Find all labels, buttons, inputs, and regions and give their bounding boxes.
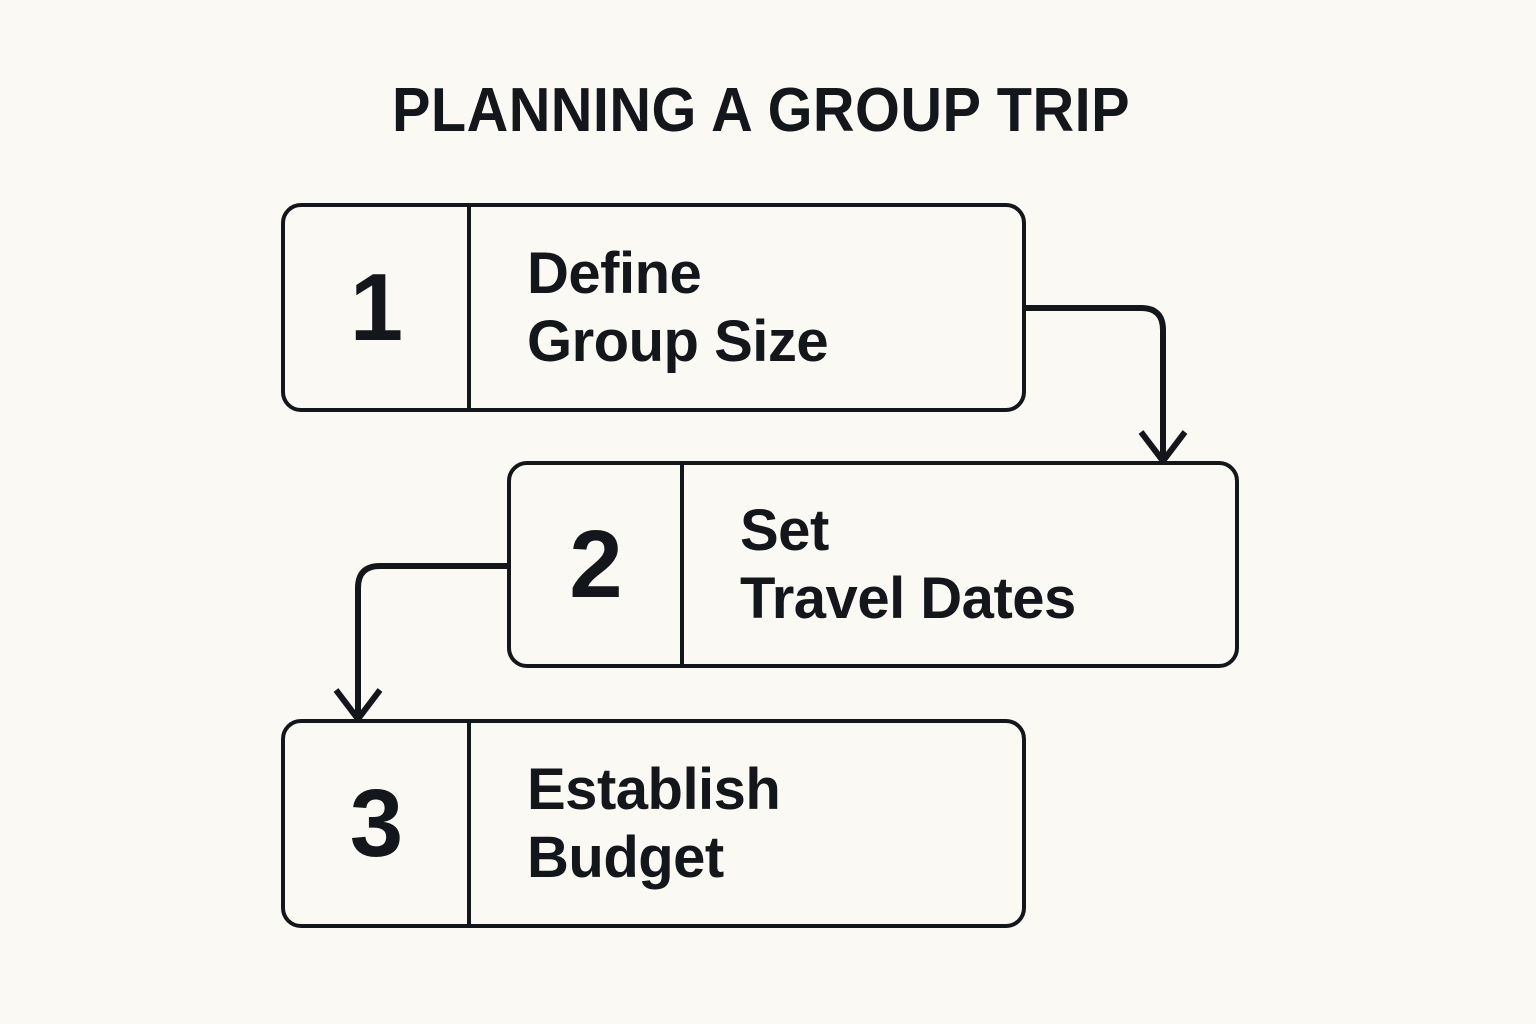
step-3-number-cell: 3 <box>285 723 471 924</box>
step-1-label-cell: Define Group Size <box>471 207 1022 408</box>
step-box-3[interactable]: 3 Establish Budget <box>281 719 1026 928</box>
step-1-label-line-2: Group Size <box>527 308 1002 376</box>
step-2-label-cell: Set Travel Dates <box>684 465 1235 664</box>
page-title: PLANNING A GROUP TRIP <box>315 76 1208 146</box>
diagram-canvas: PLANNING A GROUP TRIP 1 Define Group Siz… <box>0 0 1536 1024</box>
step-1-number: 1 <box>350 260 402 356</box>
step-box-2[interactable]: 2 Set Travel Dates <box>507 461 1239 668</box>
connector-1-to-2-arrowhead <box>1141 432 1185 461</box>
step-3-label-line-2: Budget <box>527 824 1002 892</box>
step-box-1[interactable]: 1 Define Group Size <box>281 203 1026 412</box>
step-1-number-cell: 1 <box>285 207 471 408</box>
connector-2-to-3-path <box>358 566 507 719</box>
step-2-label-line-1: Set <box>740 497 1215 565</box>
connector-2-to-3 <box>336 566 507 719</box>
step-3-label-line-1: Establish <box>527 756 1002 824</box>
connector-1-to-2-path <box>1026 308 1163 461</box>
step-3-number: 3 <box>350 776 402 872</box>
connector-1-to-2 <box>1026 308 1185 461</box>
step-2-number-cell: 2 <box>511 465 684 664</box>
step-2-label-line-2: Travel Dates <box>740 565 1215 633</box>
step-3-label-cell: Establish Budget <box>471 723 1022 924</box>
step-2-number: 2 <box>569 517 621 613</box>
connector-2-to-3-arrowhead <box>336 690 380 719</box>
step-1-label-line-1: Define <box>527 240 1002 308</box>
